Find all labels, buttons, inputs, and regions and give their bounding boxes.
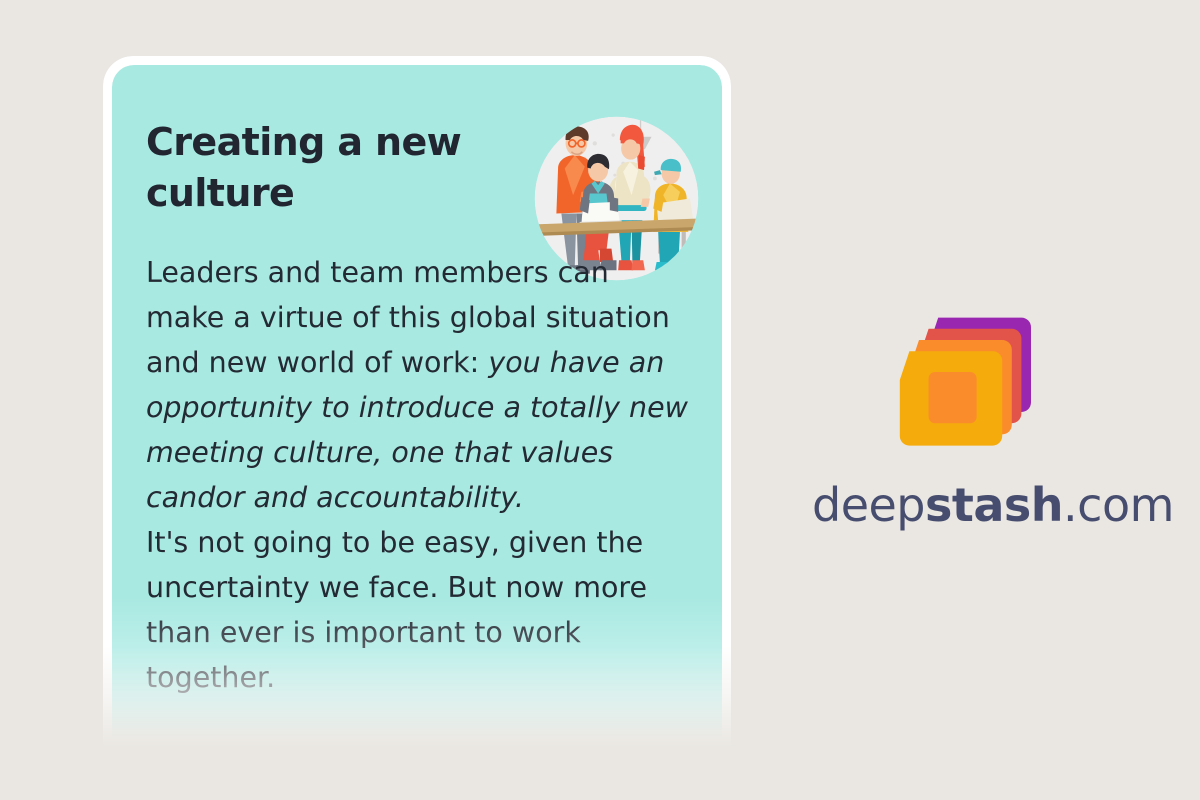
brand-block: deepstash.com <box>812 300 1122 528</box>
deepstash-logo-icon <box>887 300 1047 460</box>
card-body-text: Leaders and team members can make a virt… <box>146 250 691 700</box>
screenshot-stage: Creating a new culture <box>0 0 1200 800</box>
stash-card[interactable]: Creating a new culture <box>103 56 731 756</box>
brand-name-light: deep <box>812 478 925 532</box>
brand-wordmark: deepstash.com <box>812 482 1122 528</box>
brand-tld: .com <box>1063 478 1174 532</box>
brand-name-bold: stash <box>925 478 1063 532</box>
card-title: Creating a new culture <box>146 117 476 218</box>
card-surface: Creating a new culture <box>112 65 722 756</box>
body-part-2: It's not going to be easy, given the unc… <box>146 520 691 700</box>
